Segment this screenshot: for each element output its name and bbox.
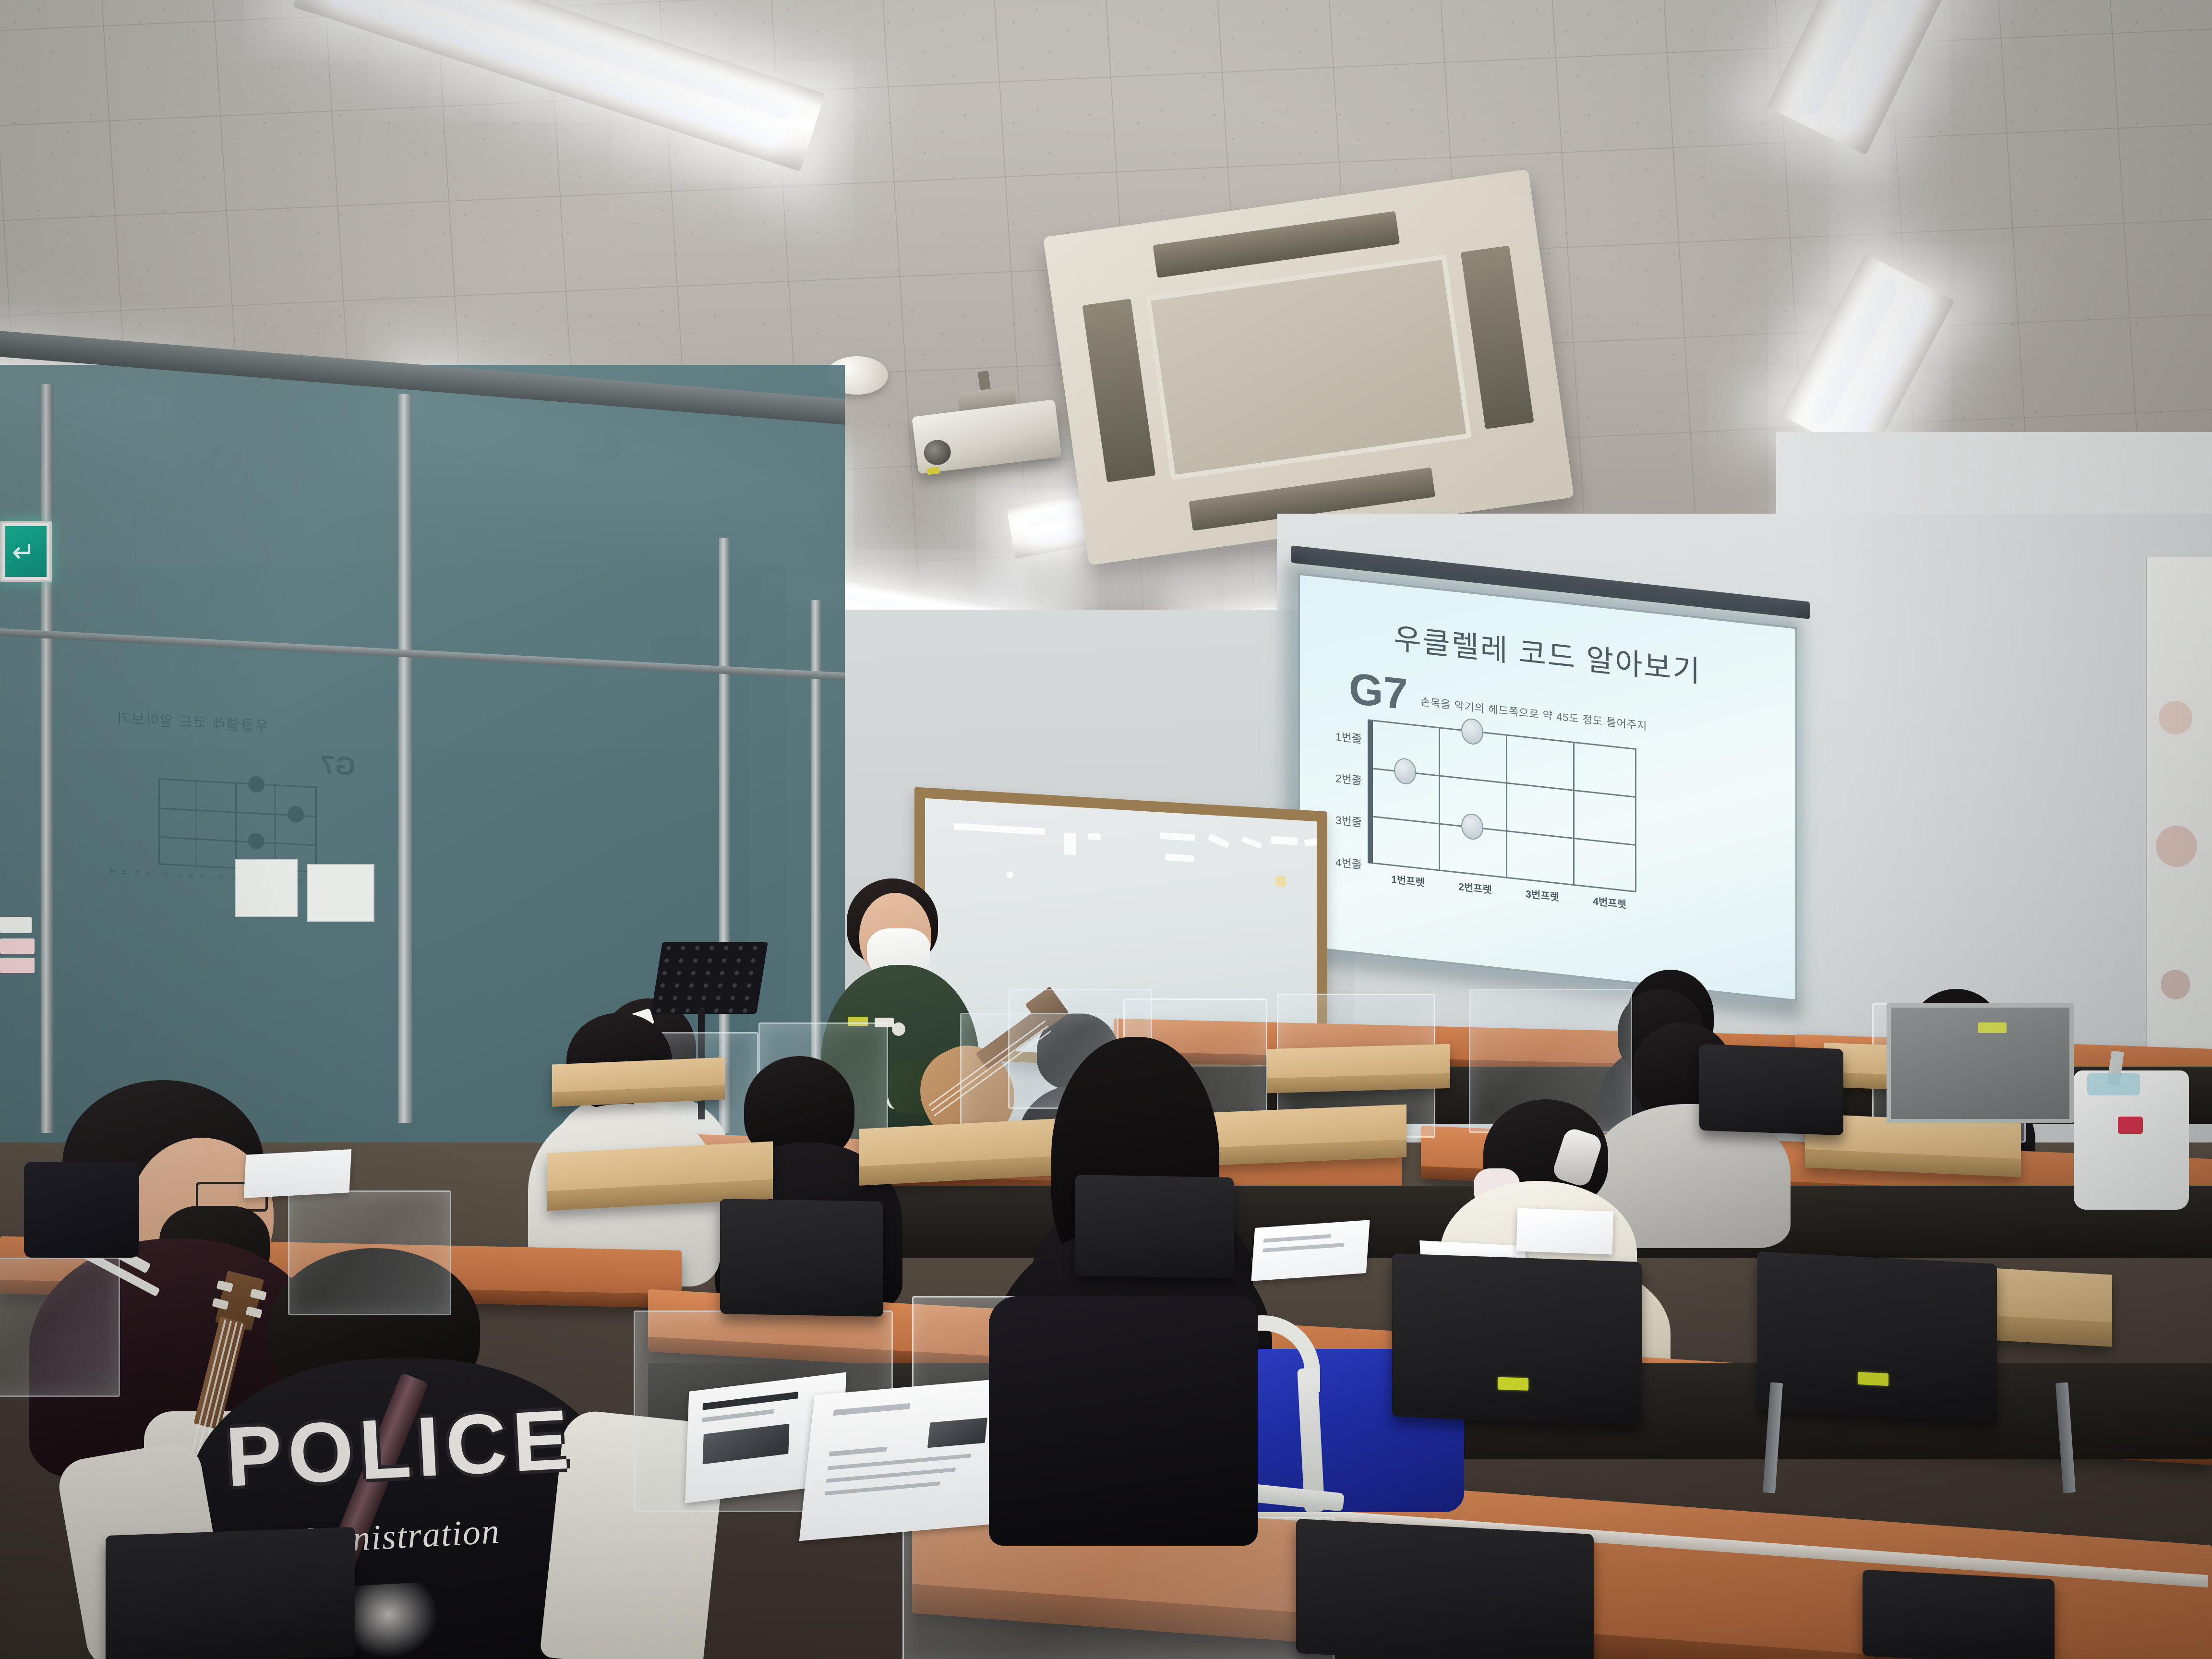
acrylic-divider bbox=[0, 1258, 120, 1397]
air-conditioner-unit bbox=[1043, 169, 1574, 565]
chord-diagram bbox=[1368, 719, 1636, 892]
projector-lens bbox=[923, 438, 952, 466]
chair[interactable] bbox=[720, 1199, 883, 1317]
chord-dot bbox=[1394, 757, 1416, 785]
string-label-column: 1번줄 2번줄 3번줄 4번줄 bbox=[1335, 716, 1368, 883]
cabinet-tag bbox=[1978, 1022, 2007, 1033]
plastic-shopping-bag bbox=[2074, 1051, 2189, 1210]
string-label: 2번줄 bbox=[1335, 760, 1362, 799]
bag-logo bbox=[2118, 1117, 2143, 1134]
chair[interactable] bbox=[1075, 1175, 1234, 1278]
handout-sheet[interactable] bbox=[1251, 1220, 1370, 1281]
exit-sign[interactable]: ↵ bbox=[0, 521, 52, 582]
glass-notice-poster bbox=[307, 864, 374, 922]
chord-dot bbox=[1461, 812, 1483, 841]
exit-arrow-icon: ↵ bbox=[12, 539, 36, 566]
ukulele-kit-box bbox=[1267, 1044, 1450, 1094]
classroom-photo: 우클렐레 코드 알아보기 G7 손목을 악기의 헤드쪽으로 약 45도 정도 틀… bbox=[0, 0, 2212, 1659]
chair[interactable] bbox=[1757, 1251, 1997, 1422]
string-label: 4번줄 bbox=[1335, 844, 1362, 883]
asset-tag bbox=[1498, 1377, 1528, 1391]
chair[interactable] bbox=[1392, 1253, 1642, 1425]
string-label: 3번줄 bbox=[1335, 802, 1362, 841]
handout-sheet[interactable] bbox=[1516, 1208, 1613, 1255]
jacket-button bbox=[892, 1022, 905, 1036]
glass-sticker bbox=[0, 938, 35, 954]
ukulele-kit-box bbox=[552, 1057, 725, 1106]
projection-screen: 우클렐레 코드 알아보기 G7 손목을 악기의 헤드쪽으로 약 45도 정도 틀… bbox=[1298, 573, 1797, 1002]
wall-poster bbox=[2146, 557, 2212, 1123]
slide-reflection: 우클렐레 코드 알아보기 G7 1번프렛 2번프렛 3번프렛 4번프렛 bbox=[10, 701, 374, 989]
fret-label: 2번프렛 bbox=[1442, 877, 1509, 899]
draped-coat bbox=[989, 1296, 1258, 1546]
acrylic-divider bbox=[288, 1190, 451, 1315]
glass-notice-poster bbox=[235, 859, 298, 917]
fret-label: 4번프렛 bbox=[1576, 891, 1643, 913]
slide-chord-name: G7 bbox=[1349, 669, 1408, 715]
asset-tag bbox=[1858, 1372, 1888, 1386]
wall-cabinet bbox=[1887, 1003, 2074, 1123]
glass-sticker bbox=[0, 958, 35, 973]
black-bag bbox=[24, 1162, 139, 1258]
glass-mullion bbox=[398, 394, 412, 1123]
slide-content: 우클렐레 코드 알아보기 G7 손목을 악기의 헤드쪽으로 약 45도 정도 틀… bbox=[1300, 575, 1795, 999]
asset-tag bbox=[927, 467, 940, 475]
chair[interactable] bbox=[1699, 1044, 1843, 1135]
chair[interactable] bbox=[1296, 1519, 1594, 1659]
fret-label: 1번프렛 bbox=[1374, 870, 1442, 891]
chair[interactable] bbox=[1863, 1570, 2055, 1659]
handout-sheet[interactable] bbox=[799, 1378, 1015, 1541]
jacket-text-police: POLICE bbox=[224, 1398, 564, 1500]
handout-sheet[interactable] bbox=[244, 1149, 351, 1198]
glass-sticker bbox=[0, 917, 32, 933]
string-label: 1번줄 bbox=[1335, 719, 1362, 757]
chair[interactable] bbox=[106, 1527, 355, 1659]
fret-label: 3번프렛 bbox=[1509, 884, 1576, 906]
music-stand-desk bbox=[651, 942, 768, 1014]
